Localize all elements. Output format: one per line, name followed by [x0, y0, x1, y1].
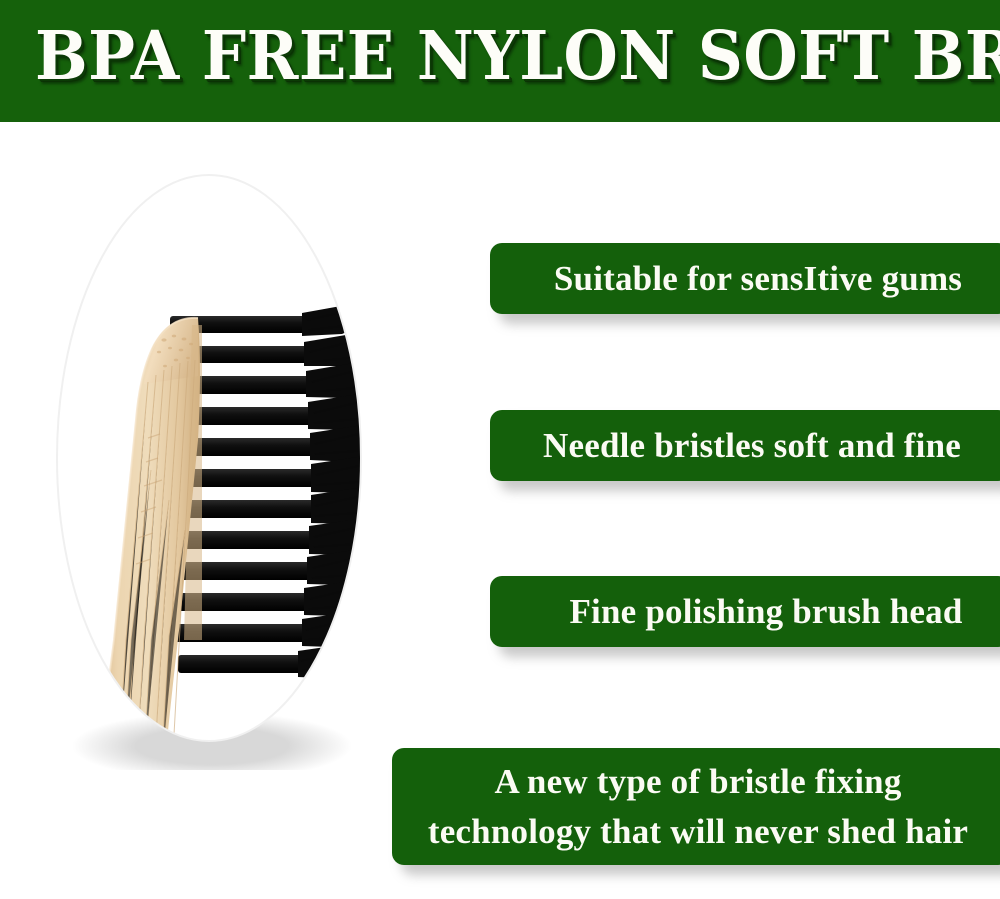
toothbrush-illustration	[52, 170, 392, 770]
feature-badge-fine-polishing-brush-head: Fine polishing brush head	[490, 576, 1000, 647]
photo-oval-clip	[57, 175, 390, 770]
feature-badge-needle-bristles-soft-and-fine: Needle bristles soft and fine	[490, 410, 1000, 481]
page-title: BPA FREE NYLON SOFT BRISTLES	[35, 14, 965, 98]
feature-badge-bristle-fixing-technology: A new type of bristle fixing technology …	[392, 748, 1000, 865]
product-photo	[52, 170, 392, 770]
feature-badge-suitable-for-sensitive-gums: Suitable for sensItive gums	[490, 243, 1000, 314]
feature-label: Needle bristles soft and fine	[512, 424, 992, 468]
feature-label: Fine polishing brush head	[540, 590, 992, 634]
header-banner: BPA FREE NYLON SOFT BRISTLES	[0, 0, 1000, 122]
feature-label: Suitable for sensItive gums	[524, 257, 992, 301]
feature-label: A new type of bristle fixing technology …	[406, 757, 990, 857]
